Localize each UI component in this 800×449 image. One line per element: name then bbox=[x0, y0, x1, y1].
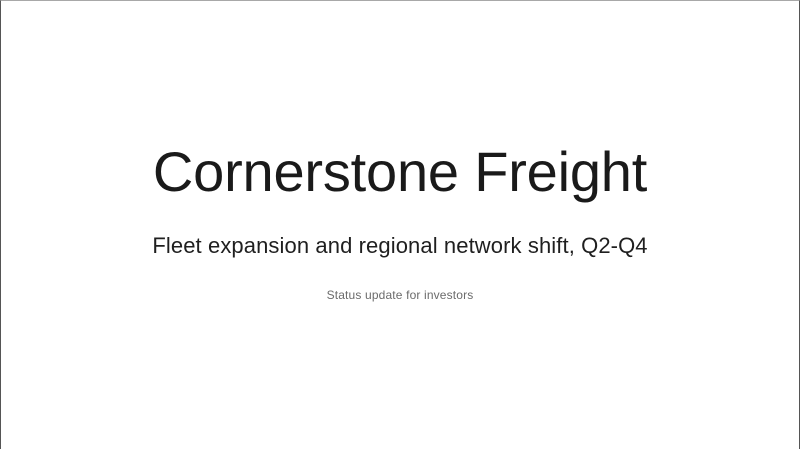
slide-subtitle: Fleet expansion and regional network shi… bbox=[1, 200, 799, 257]
slide-tertiary-caption: Status update for investors bbox=[1, 257, 799, 301]
title-block: Cornerstone Freight Fleet expansion and … bbox=[1, 144, 799, 301]
title-slide: Cornerstone Freight Fleet expansion and … bbox=[0, 0, 800, 449]
page-title: Cornerstone Freight bbox=[1, 144, 799, 200]
